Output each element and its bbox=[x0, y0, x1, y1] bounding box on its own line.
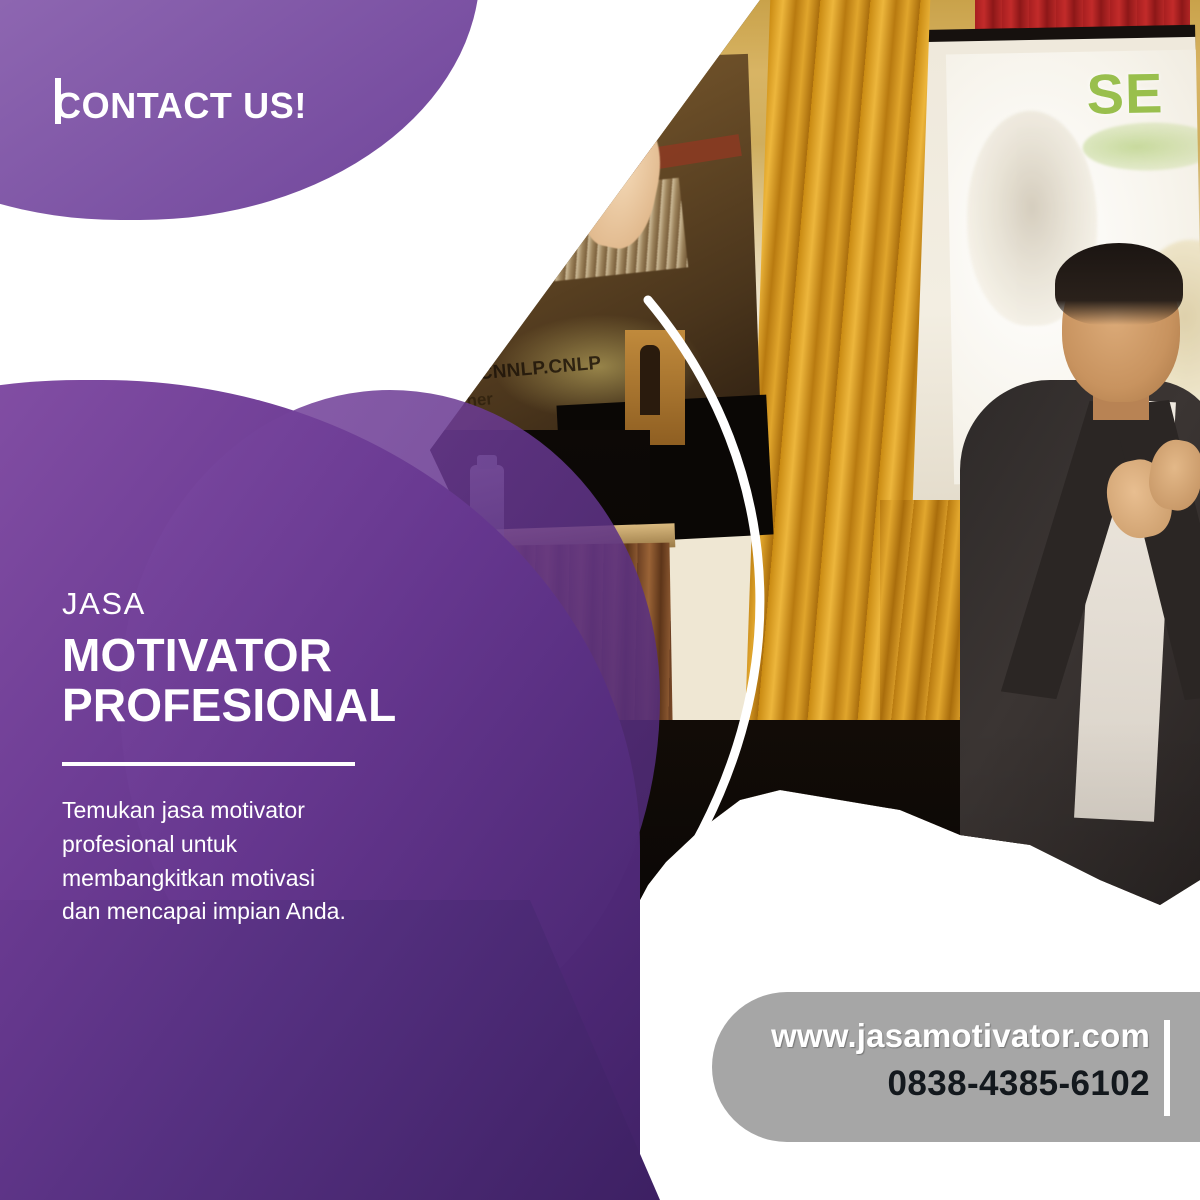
contact-us-badge[interactable]: CONTACT US! bbox=[0, 0, 480, 220]
contact-divider-bar-icon bbox=[1164, 1020, 1170, 1116]
headline-block: JASA MOTIVATOR PROFESIONAL Temukan jasa … bbox=[62, 588, 482, 929]
contact-us-label: CONTACT US! bbox=[55, 85, 307, 127]
contact-website[interactable]: www.jasamotivator.com bbox=[730, 1017, 1150, 1055]
contact-bar[interactable]: www.jasamotivator.com 0838-4385-6102 bbox=[712, 992, 1200, 1142]
headline-description: Temukan jasa motivator profesional untuk… bbox=[62, 794, 482, 928]
headline-title: MOTIVATOR PROFESIONAL bbox=[62, 631, 482, 730]
contact-phone[interactable]: 0838-4385-6102 bbox=[730, 1064, 1150, 1104]
headline-divider bbox=[62, 762, 355, 766]
headline-eyebrow: JASA bbox=[62, 588, 482, 619]
poster-canvas: SE MT.CHt.CNNLP.CNLP r & Trainer bbox=[0, 0, 1200, 1200]
